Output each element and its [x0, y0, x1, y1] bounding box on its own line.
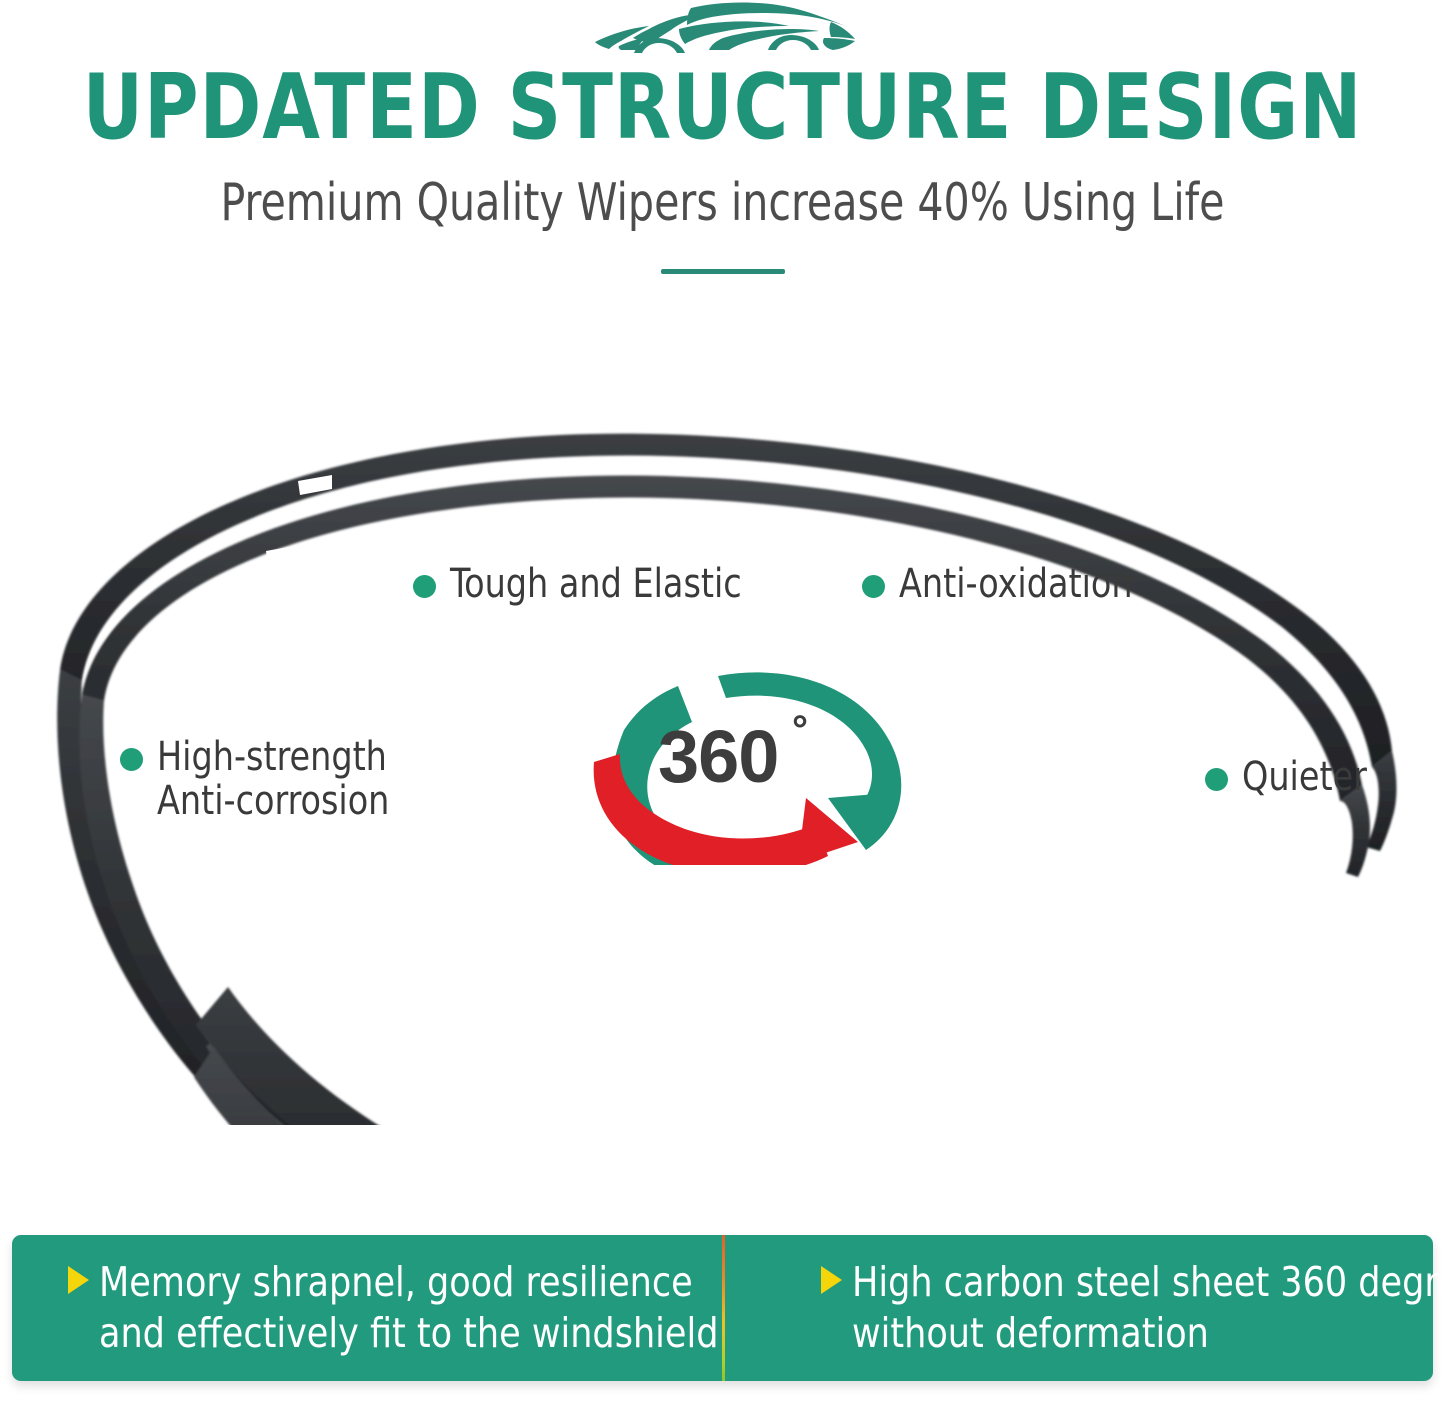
bullet-dot-icon [1205, 768, 1228, 791]
feature-label-tough-and-elastic: Tough and Elastic [413, 562, 764, 606]
feature-label-text: Tough and Elastic [450, 562, 742, 606]
banner-text-line2: and effectively fit to the windshield [99, 1308, 718, 1359]
banner-text-line2: without deformation [852, 1308, 1445, 1359]
banner-divider [722, 1235, 725, 1381]
page-subtitle: Premium Quality Wipers increase 40% Usin… [87, 172, 1359, 234]
feature-label-anti-oxidation: Anti-oxidation [862, 562, 1150, 606]
feature-label-text: Anti-oxidation [899, 562, 1133, 606]
badge-degree-symbol: ° [792, 708, 808, 753]
feature-label-quieter: Quieter [1205, 755, 1376, 799]
badge-value: 360 [658, 720, 778, 794]
triangle-bullet-icon [68, 1266, 89, 1294]
feature-label-high-strength-anti-corrosion: High-strength Anti-corrosion [120, 735, 407, 823]
triangle-bullet-icon [821, 1266, 842, 1294]
banner-text-line1: Memory shrapnel, good resilience [99, 1257, 718, 1308]
rotation-360-badge: 360 ° [566, 650, 926, 865]
banner-text-line1: High carbon steel sheet 360 degrees [852, 1257, 1445, 1308]
banner-item-memory-shrapnel: Memory shrapnel, good resilience and eff… [12, 1235, 751, 1381]
bullet-dot-icon [862, 575, 885, 598]
banner-item-high-carbon-steel: High carbon steel sheet 360 degrees with… [751, 1235, 1445, 1381]
product-infographic-page: UPDATED STRUCTURE DESIGN Premium Quality… [0, 0, 1445, 1421]
page-title: UPDATED STRUCTURE DESIGN [58, 60, 1387, 156]
feature-label-text: High-strength Anti-corrosion [157, 735, 389, 823]
car-silhouette-icon [583, 2, 873, 58]
bullet-dot-icon [120, 748, 143, 771]
bullet-dot-icon [413, 575, 436, 598]
title-divider-rule [661, 269, 785, 274]
feature-label-text: Quieter [1242, 755, 1367, 799]
